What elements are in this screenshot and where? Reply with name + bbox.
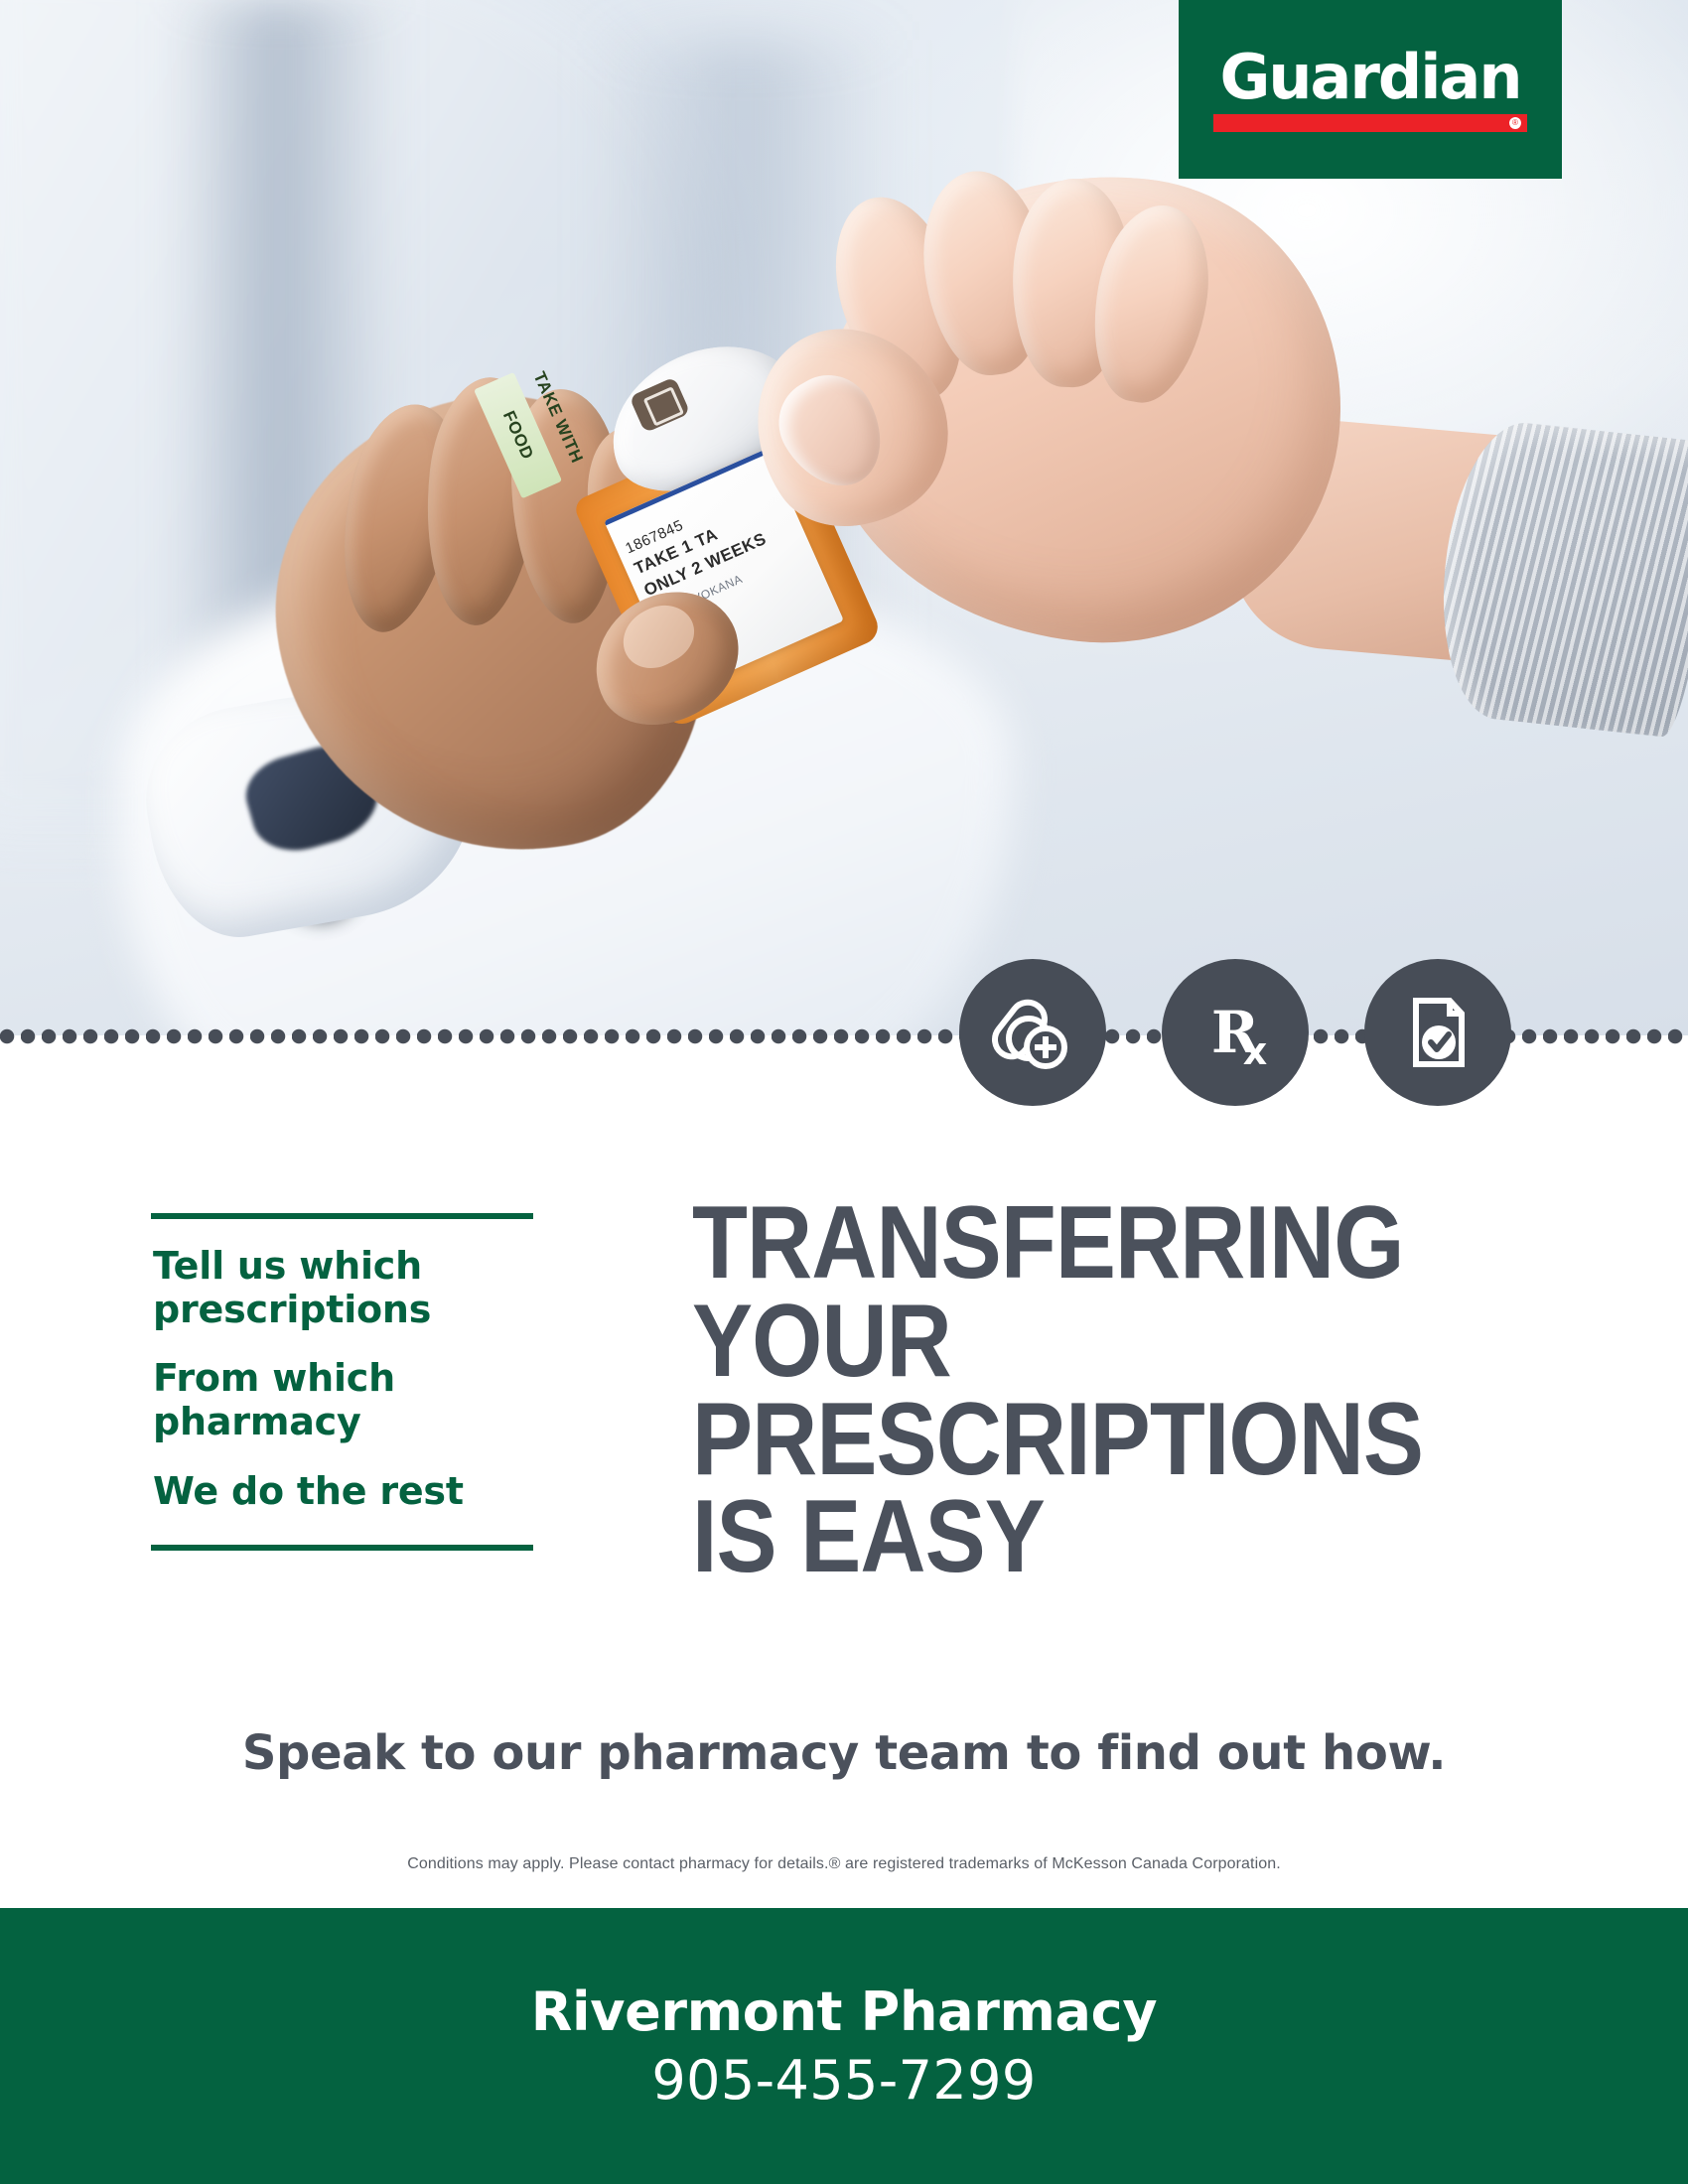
headline-line-3: PRESCRIPTIONS [692, 1391, 1444, 1489]
registered-trademark-icon: ® [1509, 117, 1521, 129]
rx-icon: R x [1162, 959, 1309, 1106]
step-item-3: We do the rest [153, 1470, 533, 1514]
document-check-icon [1364, 959, 1511, 1106]
page-title: TRANSFERRING YOUR PRESCRIPTIONS IS EASY [692, 1194, 1444, 1586]
guardian-wordmark: Guardian [1219, 47, 1520, 108]
call-to-action-text: Speak to our pharmacy team to find out h… [0, 1725, 1688, 1781]
steps-list: Tell us which prescriptions From which p… [151, 1213, 533, 1551]
headline-line-4: IS EASY [692, 1488, 1444, 1586]
step-item-1: Tell us which prescriptions [153, 1245, 533, 1331]
steps-rule-bottom [151, 1545, 533, 1551]
poster-canvas: TAKE WITH FOOD 1867845 TAKE 1 TA ONLY 2 … [0, 0, 1688, 2184]
headline-line-1: TRANSFERRING [692, 1194, 1444, 1293]
legal-disclaimer: Conditions may apply. Please contact pha… [0, 1855, 1688, 1873]
steps-items: Tell us which prescriptions From which p… [151, 1219, 533, 1545]
svg-text:x: x [1243, 1029, 1268, 1073]
footer-bar: Rivermont Pharmacy 905-455-7299 [0, 1908, 1688, 2184]
headline-line-2: YOUR [692, 1293, 1444, 1391]
guardian-red-bar: ® [1213, 114, 1527, 132]
guardian-logo: Guardian ® [1179, 0, 1562, 179]
step-item-2: From which pharmacy [153, 1357, 533, 1443]
pharmacy-phone: 905-455-7299 [651, 2049, 1036, 2112]
pills-plus-icon [959, 959, 1106, 1106]
pharmacy-name: Rivermont Pharmacy [531, 1980, 1158, 2043]
